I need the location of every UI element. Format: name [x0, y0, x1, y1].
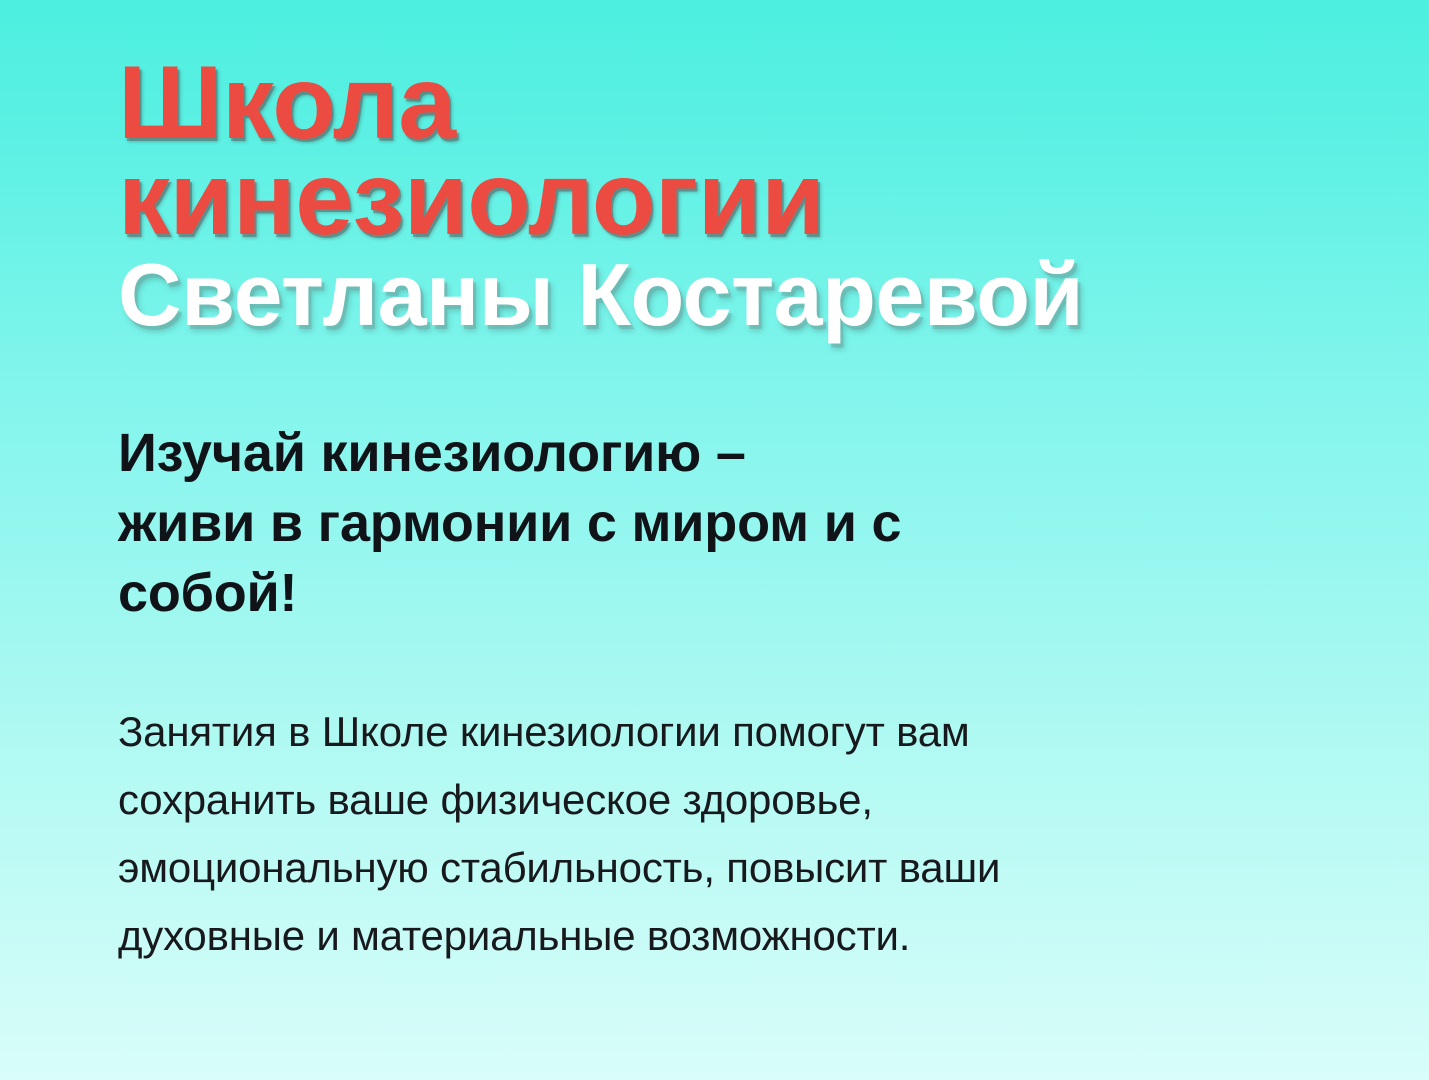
- body-line-3: эмоциональную стабильность, повысит ваши: [118, 834, 1248, 902]
- title-line-svetlany-kostarevoy: Светланы Костаревой: [118, 251, 1298, 339]
- title-line-shkola: Школа: [118, 56, 1298, 152]
- subheading-line-1: Изучай кинезиологию –: [118, 423, 746, 483]
- body-paragraph: Занятия в Школе кинезиологии помогут вам…: [118, 698, 1248, 970]
- title-block: Школа кинезиологии Светланы Костаревой: [118, 56, 1298, 339]
- body-line-2: сохранить ваше физическое здоровье,: [118, 766, 1248, 834]
- subheading-line-3: собой!: [118, 563, 297, 623]
- title-line-kineziologii: кинезиологии: [118, 152, 1298, 248]
- subheading: Изучай кинезиологию – живи в гармонии с …: [118, 418, 1278, 629]
- body-line-4: духовные и материальные возможности.: [118, 902, 1248, 970]
- promotional-slide: Школа кинезиологии Светланы Костаревой И…: [0, 0, 1429, 1080]
- body-line-1: Занятия в Школе кинезиологии помогут вам: [118, 698, 1248, 766]
- subheading-line-2: живи в гармонии с миром и с: [118, 493, 901, 553]
